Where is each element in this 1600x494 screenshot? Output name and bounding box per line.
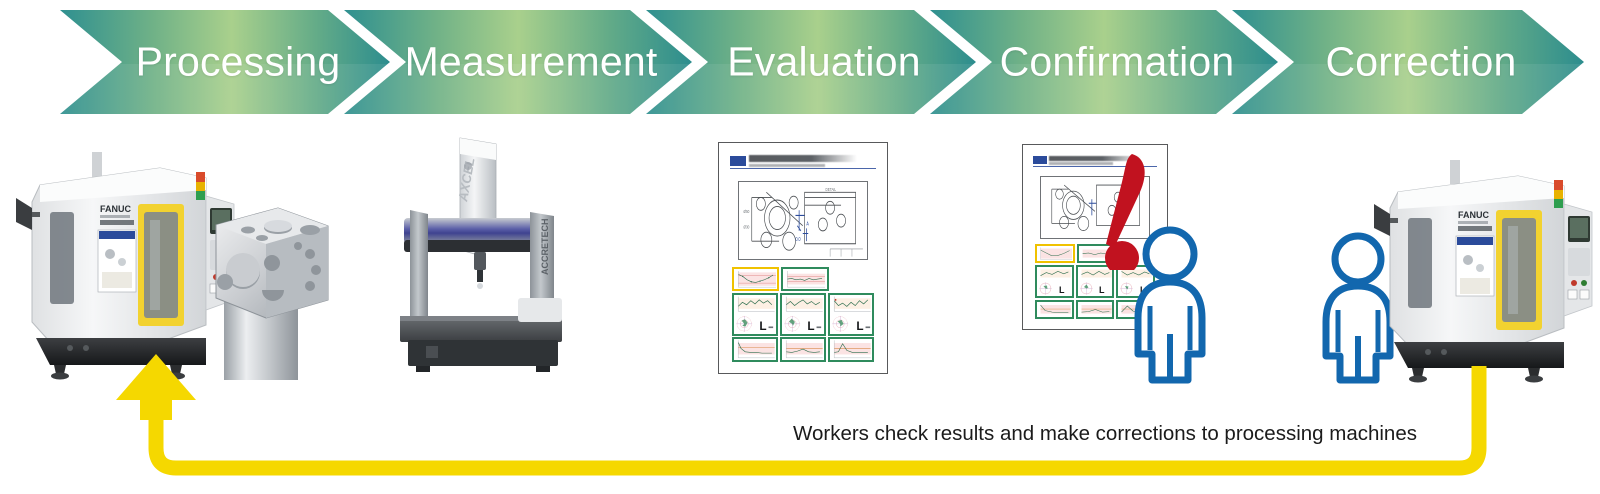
cmm-machine-icon: AXCEL ACCRETECH: [372, 130, 582, 380]
chart-cell[interactable]: L: [1035, 265, 1074, 299]
chart-cell[interactable]: [781, 267, 828, 291]
correction-illustration: FANUC: [1368, 160, 1598, 390]
chart-stack: L: [782, 295, 824, 334]
line-chart: [1037, 302, 1072, 317]
evaluation-report-document[interactable]: 0.0A Ø50Ø30DETAIL: [718, 142, 888, 374]
polar-plot: [734, 314, 755, 334]
svg-text:L: L: [760, 319, 767, 333]
line-chart: [734, 339, 776, 359]
polar-plot: [782, 314, 803, 334]
svg-text:FANUC: FANUC: [1458, 210, 1489, 220]
chart-row: [732, 267, 874, 291]
svg-text:L: L: [1099, 285, 1105, 295]
stage-chevron-processing[interactable]: Processing: [60, 10, 390, 114]
report-chart-grid: L: [732, 267, 874, 364]
chart-cell-highlighted[interactable]: [1035, 244, 1075, 263]
stage-label-correction: Correction: [1232, 42, 1584, 83]
svg-text:FANUC: FANUC: [100, 204, 131, 214]
chart-cell[interactable]: [780, 337, 826, 361]
chart-cell[interactable]: [1076, 300, 1115, 319]
svg-text:L: L: [1059, 285, 1065, 295]
chart-stack: L: [830, 295, 872, 334]
polar-plot: [1037, 281, 1054, 296]
stage-label-measurement: Measurement: [344, 42, 692, 83]
letter-badge: L: [1055, 281, 1072, 296]
svg-text:Ø30: Ø30: [744, 225, 750, 230]
svg-text:Ø50: Ø50: [744, 209, 750, 214]
svg-text:DETAIL: DETAIL: [826, 188, 837, 193]
stage-label-evaluation: Evaluation: [646, 42, 976, 83]
report-subtitle-text: [749, 164, 825, 167]
chart-cell[interactable]: L: [780, 293, 826, 336]
chart-cell[interactable]: [1035, 300, 1074, 319]
process-flow-diagram: Processing Measurement Evaluation Confir…: [0, 0, 1600, 494]
report-header: [730, 155, 875, 175]
svg-text:L: L: [856, 319, 863, 333]
svg-text:L: L: [808, 319, 815, 333]
cnc-machine-correction-icon: FANUC: [1368, 160, 1598, 390]
stage-label-processing: Processing: [60, 42, 390, 83]
line-chart: [830, 339, 872, 359]
polar-plot: [830, 314, 851, 334]
chart-row: [732, 337, 874, 361]
measurement-illustration: AXCEL ACCRETECH: [372, 130, 582, 380]
stage-chevron-measurement[interactable]: Measurement: [344, 10, 692, 114]
chart-stack: L: [734, 295, 776, 334]
letter-badge: L: [852, 314, 873, 334]
letter-badge: L: [1095, 281, 1112, 296]
chart-stack: L: [1037, 267, 1072, 297]
line-chart: [1078, 302, 1113, 317]
line-chart: [1037, 246, 1073, 261]
svg-text:0.0: 0.0: [796, 237, 801, 243]
line-chart: [783, 269, 826, 289]
svg-text:A: A: [807, 221, 809, 227]
report-logo-icon: [1033, 156, 1047, 164]
processing-illustration: FANUC: [10, 150, 340, 390]
letter-badge: L: [803, 314, 824, 334]
worker-person-confirmation-icon: [1132, 226, 1208, 384]
report-logo-icon: [730, 156, 746, 166]
cad-drawing-panel: 0.0A Ø50Ø30DETAIL: [738, 181, 868, 260]
line-chart: [734, 269, 777, 289]
chart-cell[interactable]: L: [732, 293, 778, 336]
chart-row: L: [732, 293, 874, 336]
line-chart: [782, 339, 824, 359]
letter-badge: L: [755, 314, 776, 334]
report-header-rule: [730, 168, 875, 169]
stage-chevron-confirmation[interactable]: Confirmation: [930, 10, 1278, 114]
stage-label-confirmation: Confirmation: [930, 42, 1278, 83]
chart-cell[interactable]: [732, 337, 778, 361]
report-title-text: [749, 155, 857, 162]
chart-cell-highlighted[interactable]: [732, 267, 779, 291]
cnc-machine-processing-icon: FANUC: [10, 150, 340, 390]
polar-plot: [1078, 281, 1095, 296]
svg-text:ACCRETECH: ACCRETECH: [540, 218, 550, 275]
process-stage-banner: Processing Measurement Evaluation Confir…: [0, 0, 1600, 124]
chart-cell[interactable]: L: [828, 293, 874, 336]
feedback-caption: Workers check results and make correctio…: [793, 422, 1417, 446]
report-page: 0.0A Ø50Ø30DETAIL: [724, 148, 882, 368]
stage-chevron-evaluation[interactable]: Evaluation: [646, 10, 976, 114]
stage-chevron-correction[interactable]: Correction: [1232, 10, 1584, 114]
chart-stack: L: [1078, 267, 1113, 297]
chart-cell[interactable]: [828, 337, 874, 361]
cad-drawing-icon: 0.0A Ø50Ø30DETAIL: [739, 182, 867, 259]
